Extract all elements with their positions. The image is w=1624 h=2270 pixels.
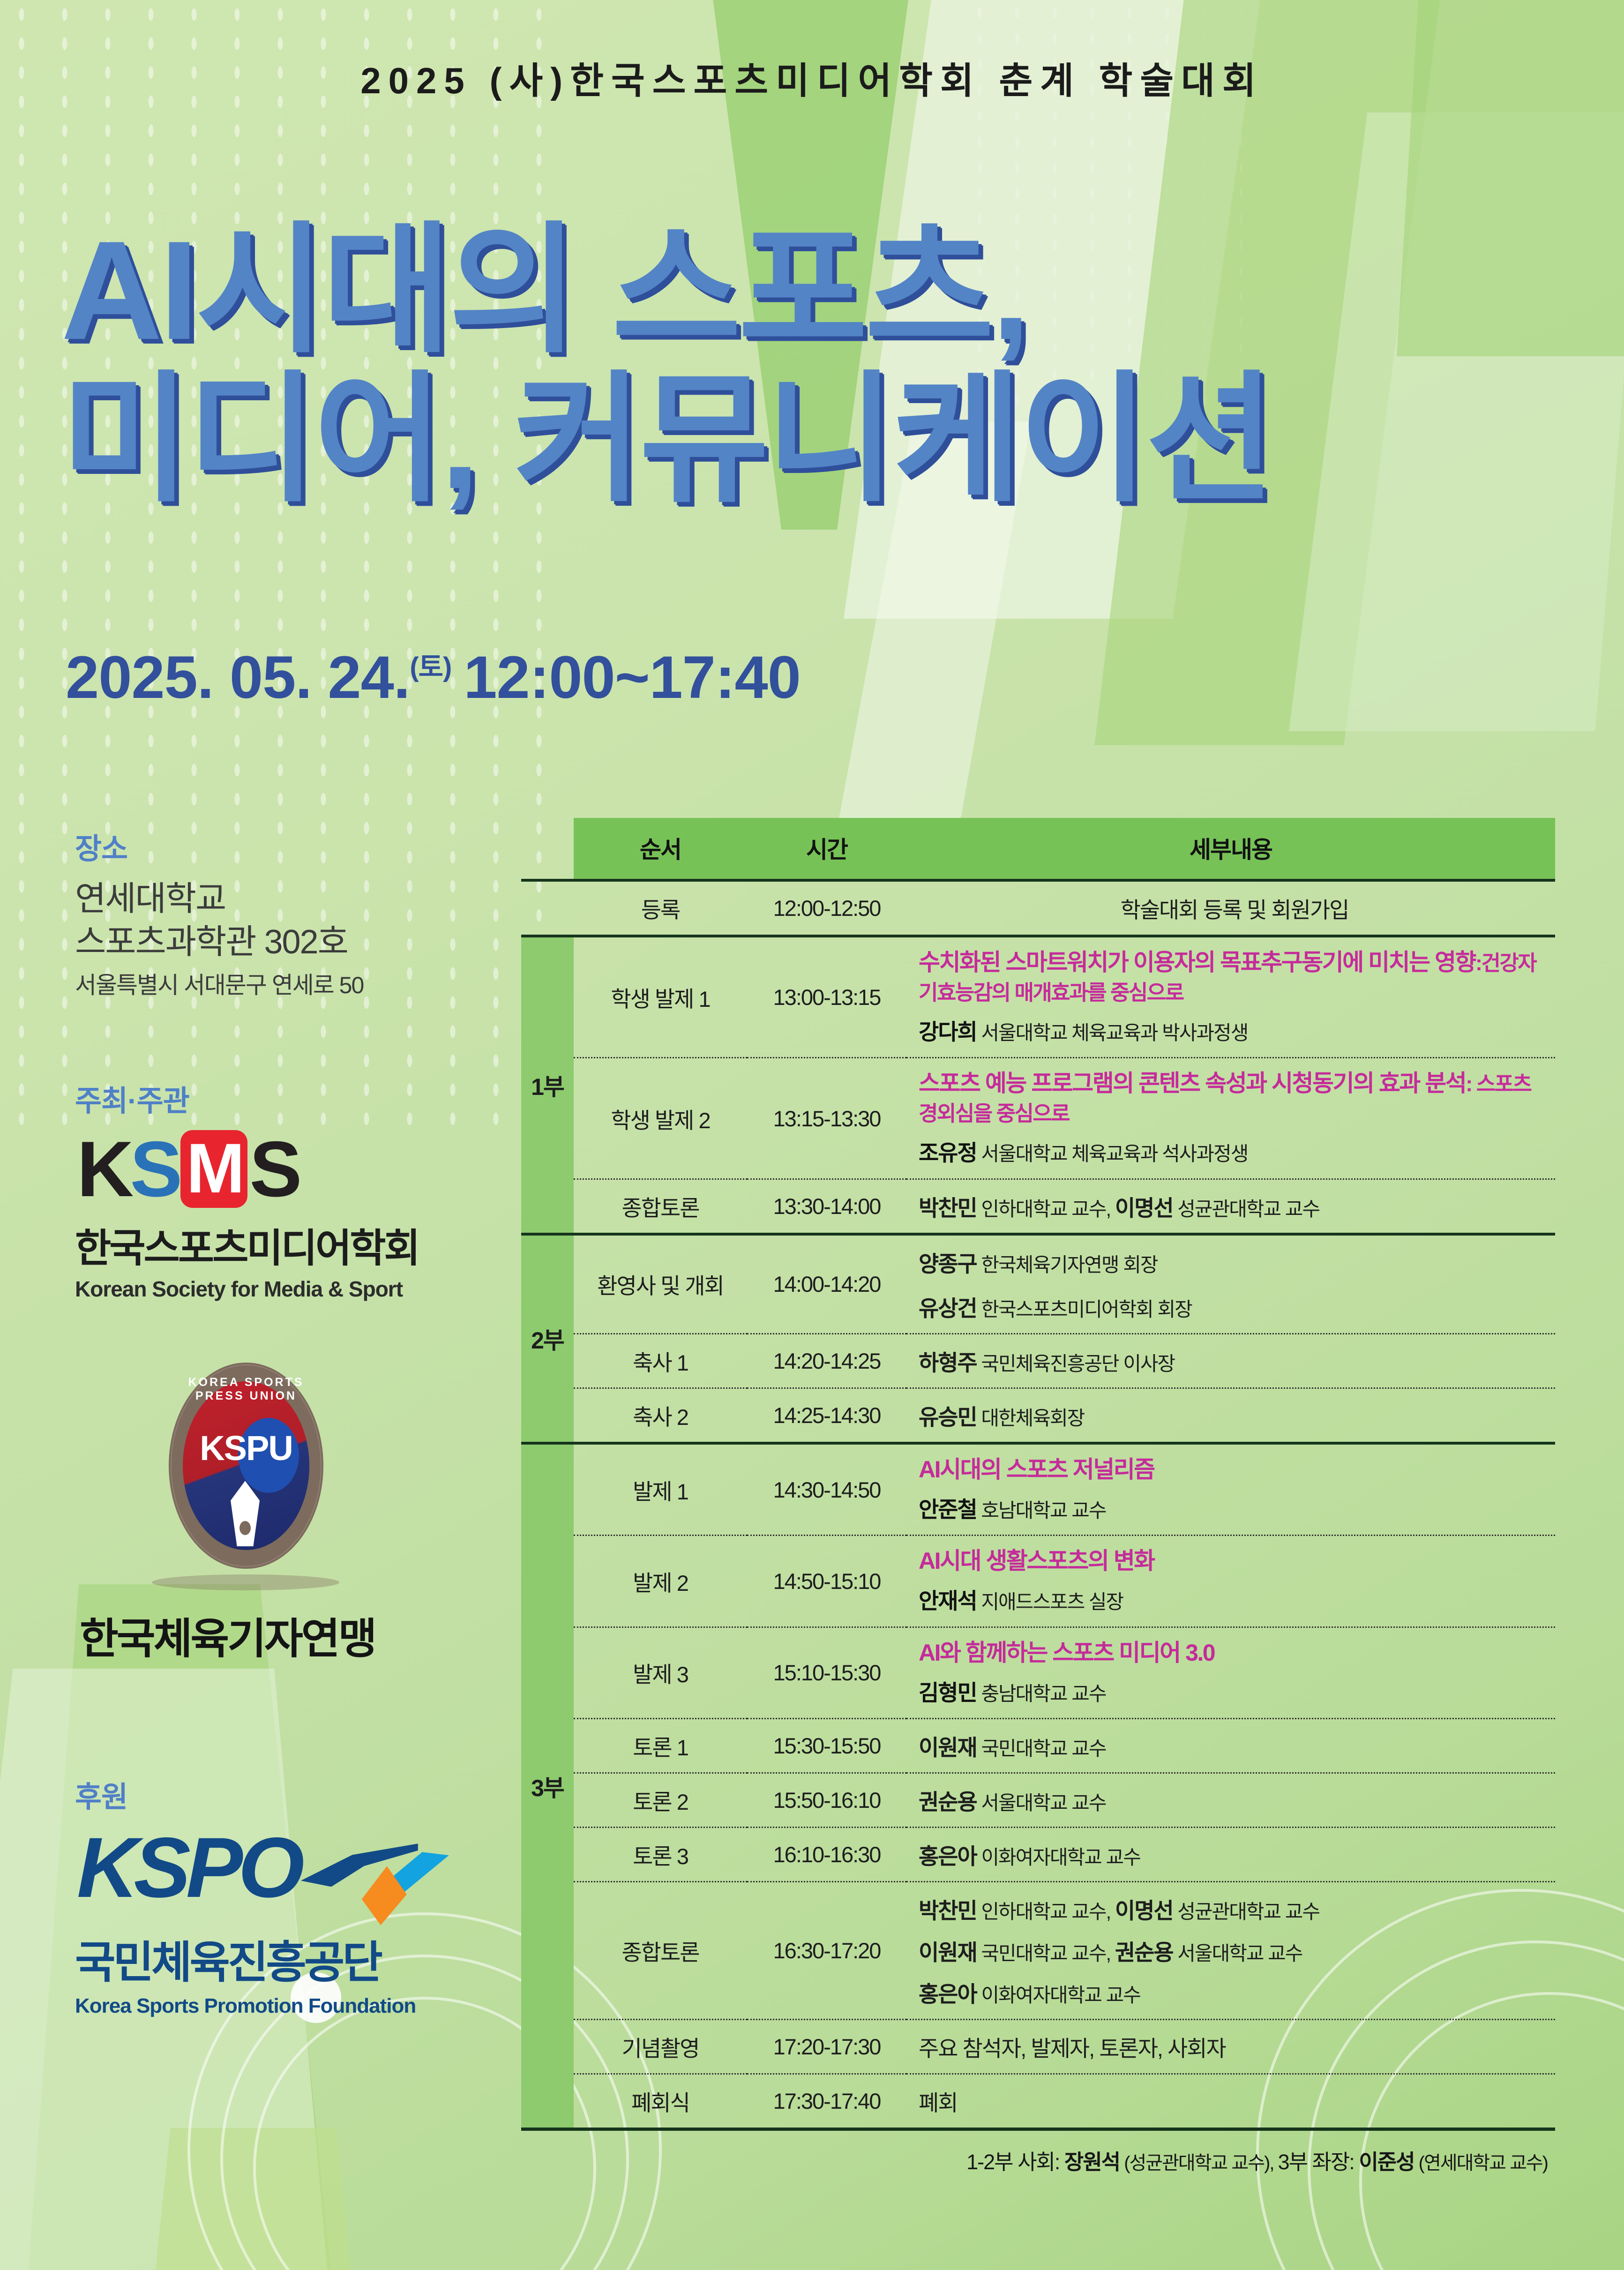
title-line-2: 미디어, 커뮤니케이션: [61, 365, 1561, 514]
row-detail: 권순용 서울대학교 교수: [906, 1773, 1555, 1828]
session-part-empty: [521, 880, 574, 936]
person-entry: 하형주 국민체육진흥공단 이사장: [919, 1350, 1175, 1375]
person-line: 홍은아 이화여자대학교 교수: [919, 1976, 1550, 2008]
event-date: 2025. 05. 24.: [66, 644, 410, 711]
table-row: 등록12:00-12:50학술대회 등록 및 회원가입: [521, 880, 1555, 936]
table-row: 축사 114:20-14:25하형주 국민체육진흥공단 이사장: [521, 1334, 1555, 1388]
row-time: 15:50-16:10: [747, 1773, 906, 1828]
row-order: 토론 2: [574, 1773, 747, 1828]
person-name: 홍은아: [919, 1982, 977, 2007]
person-entry: 유상건 한국스포츠미디어학회 회장: [919, 1296, 1192, 1321]
person-entry: 이원재 국민대학교 교수,: [919, 1940, 1115, 1965]
row-time: 14:20-14:25: [747, 1334, 906, 1388]
column-header-order: 순서: [574, 818, 747, 880]
person-name: 박찬민: [919, 1898, 977, 1923]
table-row: 발제 315:10-15:30AI와 함께하는 스포츠 미디어 3.0김형민 충…: [521, 1627, 1555, 1718]
person-name: 김형민: [919, 1680, 977, 1705]
person-name: 유승민: [919, 1405, 977, 1430]
kspo-wordmark: KSPO: [77, 1826, 300, 1909]
row-detail: 스포츠 예능 프로그램의 콘텐츠 속성과 시청동기의 효과 분석: 스포츠 경외…: [906, 1058, 1555, 1179]
ksms-logo: K S M S: [77, 1130, 525, 1208]
event-day-of-week: (토): [410, 652, 451, 682]
person-name: 양종구: [919, 1251, 977, 1276]
venue-name: 연세대학교: [75, 877, 525, 921]
person-entry: 이명선 성균관대학교 교수: [1115, 1196, 1319, 1221]
ksms-letter-m: M: [186, 1129, 242, 1207]
row-detail: AI시대 생활스포츠의 변화안재석 지애드스포츠 실장: [906, 1536, 1555, 1627]
presentation-topic: 스포츠 예능 프로그램의 콘텐츠 속성과 시청동기의 효과 분석: 스포츠 경외…: [919, 1069, 1550, 1128]
table-row: 2부환영사 및 개회14:00-14:20양종구 한국체육기자연맹 회장 유상건…: [521, 1234, 1555, 1334]
person-affiliation: 국민대학교 교수: [977, 1738, 1106, 1760]
footer-chair-affil: (연세대학교 교수): [1414, 2153, 1548, 2173]
schedule-table-body: 등록12:00-12:50학술대회 등록 및 회원가입1부학생 발제 113:0…: [521, 880, 1555, 2128]
column-header-part: [521, 818, 574, 880]
session-part-label: 3부: [521, 1443, 574, 2128]
organizers-label: 주최·주관: [75, 1077, 525, 1119]
table-row: 학생 발제 213:15-13:30스포츠 예능 프로그램의 콘텐츠 속성과 시…: [521, 1058, 1555, 1179]
person-entry: 유승민 대한체육회장: [919, 1405, 1084, 1430]
row-detail: 박찬민 인하대학교 교수, 이명선 성균관대학교 교수: [906, 1179, 1555, 1234]
venue-label: 장소: [75, 825, 525, 867]
person-affiliation: 성균관대학교 교수: [1173, 1901, 1319, 1923]
row-order: 학생 발제 1: [574, 936, 747, 1058]
person-affiliation: 충남대학교 교수: [977, 1683, 1106, 1705]
row-detail: 폐회: [906, 2074, 1555, 2128]
person-entry: 권순용 서울대학교 교수: [1115, 1940, 1302, 1965]
person-name: 이원재: [919, 1735, 977, 1760]
kspu-emblem-icon: KOREA SPORTS PRESS UNION KSPU: [169, 1363, 323, 1569]
row-time: 17:30-17:40: [747, 2074, 906, 2128]
session-part-label: 2부: [521, 1234, 574, 1443]
row-detail: 학술대회 등록 및 회원가입: [906, 880, 1555, 936]
row-detail: 양종구 한국체육기자연맹 회장 유상건 한국스포츠미디어학회 회장: [906, 1234, 1555, 1334]
table-row: 기념촬영17:20-17:30주요 참석자, 발제자, 토론자, 사회자: [521, 2020, 1555, 2074]
row-detail: 이원재 국민대학교 교수: [906, 1719, 1555, 1773]
row-time: 14:00-14:20: [747, 1234, 906, 1334]
person-entry: 양종구 한국체육기자연맹 회장: [919, 1251, 1157, 1276]
person-affiliation: 지애드스포츠 실장: [977, 1591, 1123, 1613]
person-entry: 박찬민 인하대학교 교수,: [919, 1196, 1115, 1221]
person-name: 강다희: [919, 1019, 977, 1044]
ksms-letter-s1: S: [130, 1130, 179, 1208]
ksms-m-badge: M: [180, 1130, 247, 1208]
person-affiliation: 이화여자대학교 교수: [977, 1984, 1140, 2006]
person-entry: 홍은아 이화여자대학교 교수: [919, 1982, 1140, 2007]
row-order: 발제 2: [574, 1536, 747, 1627]
row-time: 16:30-17:20: [747, 1882, 906, 2020]
row-time: 17:20-17:30: [747, 2020, 906, 2074]
person-name: 안준철: [919, 1497, 977, 1522]
person-affiliation: 이화여자대학교 교수: [977, 1846, 1140, 1868]
ksms-letter-s2: S: [249, 1130, 298, 1208]
row-order: 축사 2: [574, 1388, 747, 1443]
ksms-english-name: Korean Society for Media & Sport: [75, 1276, 525, 1302]
row-order: 종합토론: [574, 1882, 747, 2020]
row-detail: 수치화된 스마트워치가 이용자의 목표추구동기에 미치는 영향:건강자기효능감의…: [906, 936, 1555, 1058]
row-order: 종합토론: [574, 1179, 747, 1234]
kspu-logo: KOREA SPORTS PRESS UNION KSPU 한국체육기자연맹: [75, 1363, 525, 1665]
row-detail: 주요 참석자, 발제자, 토론자, 사회자: [906, 2020, 1555, 2074]
person-name: 홍은아: [919, 1844, 977, 1869]
date-time-line: 2025. 05. 24.(토)12:00~17:40: [66, 643, 801, 712]
row-detail: 홍은아 이화여자대학교 교수: [906, 1828, 1555, 1882]
kspu-shadow: [152, 1574, 339, 1590]
presenter: 안재석 지애드스포츠 실장: [919, 1586, 1550, 1616]
person-name: 이명선: [1115, 1898, 1173, 1923]
presenter: 김형민 충남대학교 교수: [919, 1678, 1550, 1708]
person-name: 유상건: [919, 1296, 977, 1321]
kspu-ring-text: KOREA SPORTS PRESS UNION: [169, 1376, 323, 1403]
row-time: 13:00-13:15: [747, 936, 906, 1058]
person-entry: 권순용 서울대학교 교수: [919, 1790, 1106, 1814]
row-order: 기념촬영: [574, 2020, 747, 2074]
table-footer-note: 1-2부 사회: 장원석 (성균관대학교 교수), 3부 좌장: 이준성 (연세…: [521, 2131, 1555, 2175]
row-order: 환영사 및 개회: [574, 1234, 747, 1334]
presentation-topic: AI시대의 스포츠 저널리즘: [919, 1455, 1550, 1484]
table-row: 3부발제 114:30-14:50AI시대의 스포츠 저널리즘안준철 호남대학교…: [521, 1443, 1555, 1536]
row-time: 14:25-14:30: [747, 1388, 906, 1443]
table-row: 축사 214:25-14:30유승민 대한체육회장: [521, 1388, 1555, 1443]
title-line-1: AI시대의 스포츠,: [61, 216, 1561, 365]
table-row: 발제 214:50-15:10AI시대 생활스포츠의 변화안재석 지애드스포츠 …: [521, 1536, 1555, 1627]
row-order: 발제 3: [574, 1627, 747, 1718]
kspu-acronym: KSPU: [169, 1428, 323, 1468]
organizers-block: 주최·주관 K S M S 한국스포츠미디어학회 Korean Society …: [75, 1077, 525, 1665]
row-time: 15:30-15:50: [747, 1719, 906, 1773]
footer-chair-name: 이준성: [1359, 2150, 1414, 2174]
footer-moderator-name: 장원석: [1064, 2150, 1120, 2174]
ksms-korean-name: 한국스포츠미디어학회: [75, 1217, 525, 1274]
person-entry: 이원재 국민대학교 교수: [919, 1735, 1106, 1760]
row-detail: AI와 함께하는 스포츠 미디어 3.0김형민 충남대학교 교수: [906, 1627, 1555, 1718]
poster-title: AI시대의 스포츠, 미디어, 커뮤니케이션: [61, 216, 1561, 514]
person-affiliation: 인하대학교 교수,: [977, 1901, 1115, 1923]
person-affiliation: 한국체육기자연맹 회장: [977, 1254, 1158, 1276]
conference-poster: 2025 (사)한국스포츠미디어학회 춘계 학술대회 AI시대의 스포츠, 미디…: [0, 0, 1624, 2270]
person-line: 양종구 한국체육기자연맹 회장: [919, 1246, 1550, 1278]
row-time: 15:10-15:30: [747, 1627, 906, 1718]
row-time: 12:00-12:50: [747, 880, 906, 936]
row-detail: 박찬민 인하대학교 교수, 이명선 성균관대학교 교수 이원재 국민대학교 교수…: [906, 1882, 1555, 2020]
column-header-detail: 세부내용: [906, 818, 1555, 880]
person-name: 조유정: [919, 1140, 977, 1165]
table-row: 1부학생 발제 113:00-13:15수치화된 스마트워치가 이용자의 목표추…: [521, 936, 1555, 1058]
row-time: 16:10-16:30: [747, 1828, 906, 1882]
presentation-topic: AI시대 생활스포츠의 변화: [919, 1546, 1550, 1576]
person-name: 안재석: [919, 1588, 977, 1613]
person-name: 권순용: [919, 1790, 977, 1814]
row-order: 등록: [574, 880, 747, 936]
bird-icon: [296, 1828, 451, 1921]
footer-prefix-2: 3부 좌장:: [1278, 2150, 1359, 2174]
presenter: 조유정 서울대학교 체육교육과 석사과정생: [919, 1138, 1550, 1168]
ksms-letter-k: K: [77, 1130, 130, 1208]
row-time: 14:50-15:10: [747, 1536, 906, 1627]
row-order: 폐회식: [574, 2074, 747, 2128]
presentation-topic: 수치화된 스마트워치가 이용자의 목표추구동기에 미치는 영향:건강자기효능감의…: [919, 948, 1550, 1007]
kspu-korean-name: 한국체육기자연맹: [80, 1604, 525, 1665]
kspo-logo: KSPO: [77, 1826, 525, 1921]
person-affiliation: 호남대학교 교수: [977, 1499, 1106, 1521]
polygon-shape-i: [155, 2128, 352, 2270]
person-name: 이명선: [1115, 1196, 1173, 1221]
person-affiliation: 국민대학교 교수,: [977, 1942, 1115, 1964]
venue-room: 스포츠과학관 302호: [75, 921, 525, 964]
person-affiliation: 서울대학교 교수: [977, 1792, 1106, 1814]
table-row: 종합토론16:30-17:20박찬민 인하대학교 교수, 이명선 성균관대학교 …: [521, 1882, 1555, 2020]
row-time: 13:15-13:30: [747, 1058, 906, 1179]
person-affiliation: 성균관대학교 교수: [1173, 1198, 1319, 1220]
event-time-range: 12:00~17:40: [464, 644, 801, 711]
venue-block: 장소 연세대학교 스포츠과학관 302호 서울특별시 서대문구 연세로 50: [75, 825, 525, 1000]
kspo-english-name: Korea Sports Promotion Foundation: [75, 1994, 525, 2018]
row-detail: 하형주 국민체육진흥공단 이사장: [906, 1334, 1555, 1388]
presenter: 안준철 호남대학교 교수: [919, 1495, 1550, 1524]
table-row: 폐회식17:30-17:40폐회: [521, 2074, 1555, 2128]
person-affiliation: 인하대학교 교수,: [977, 1198, 1115, 1220]
presentation-subtitle: : 스포츠 경외심을 중심으로: [919, 1072, 1531, 1125]
person-entry: 이명선 성균관대학교 교수: [1115, 1898, 1319, 1923]
row-order: 축사 1: [574, 1334, 747, 1388]
schedule-table-wrapper: 순서 시간 세부내용 등록12:00-12:50학술대회 등록 및 회원가입1부…: [521, 818, 1555, 2175]
person-name: 이원재: [919, 1940, 977, 1965]
row-detail: 유승민 대한체육회장: [906, 1388, 1555, 1443]
row-time: 13:30-14:00: [747, 1179, 906, 1234]
presenter: 강다희 서울대학교 체육교육과 박사과정생: [919, 1017, 1550, 1047]
presentation-topic: AI와 함께하는 스포츠 미디어 3.0: [919, 1638, 1550, 1668]
row-order: 토론 3: [574, 1828, 747, 1882]
row-time: 14:30-14:50: [747, 1443, 906, 1536]
person-affiliation: 서울대학교 체육교육과 석사과정생: [977, 1143, 1248, 1165]
venue-address: 서울특별시 서대문구 연세로 50: [75, 966, 525, 1000]
sponsor-label: 후원: [75, 1773, 525, 1815]
person-affiliation: 한국스포츠미디어학회 회장: [977, 1298, 1192, 1320]
column-header-time: 시간: [747, 818, 906, 880]
table-bottom-rule: [521, 2128, 1555, 2131]
person-affiliation: 대한체육회장: [977, 1407, 1085, 1429]
table-header-row: 순서 시간 세부내용: [521, 818, 1555, 880]
footer-prefix-1: 1-2부 사회:: [966, 2150, 1064, 2174]
row-order: 토론 1: [574, 1719, 747, 1773]
schedule-table: 순서 시간 세부내용 등록12:00-12:50학술대회 등록 및 회원가입1부…: [521, 818, 1555, 2128]
person-name: 하형주: [919, 1350, 977, 1375]
person-affiliation: 서울대학교 체육교육과 박사과정생: [977, 1022, 1248, 1044]
table-row: 토론 115:30-15:50이원재 국민대학교 교수: [521, 1719, 1555, 1773]
row-order: 발제 1: [574, 1443, 747, 1536]
person-line: 박찬민 인하대학교 교수, 이명선 성균관대학교 교수: [919, 1893, 1550, 1925]
person-affiliation: 서울대학교 교수: [1173, 1942, 1302, 1964]
sponsor-block: 후원 KSPO 국민체육진흥공단 Korea Sports Promotion …: [75, 1773, 525, 2018]
session-part-label: 1부: [521, 936, 574, 1234]
row-order: 학생 발제 2: [574, 1058, 747, 1179]
person-line: 이원재 국민대학교 교수, 권순용 서울대학교 교수: [919, 1934, 1550, 1967]
kspo-korean-name: 국민체육진흥공단: [75, 1927, 525, 1991]
person-name: 권순용: [1115, 1940, 1173, 1965]
person-name: 박찬민: [919, 1196, 977, 1221]
person-affiliation: 국민체육진흥공단 이사장: [977, 1353, 1175, 1375]
event-kicker: 2025 (사)한국스포츠미디어학회 춘계 학술대회: [0, 52, 1624, 104]
presentation-subtitle: :건강자기효능감의 매개효과를 중심으로: [919, 951, 1536, 1004]
table-row: 토론 215:50-16:10권순용 서울대학교 교수: [521, 1773, 1555, 1828]
person-line: 유상건 한국스포츠미디어학회 회장: [919, 1290, 1550, 1323]
table-row: 종합토론13:30-14:00박찬민 인하대학교 교수, 이명선 성균관대학교 …: [521, 1179, 1555, 1234]
row-detail: AI시대의 스포츠 저널리즘안준철 호남대학교 교수: [906, 1443, 1555, 1536]
left-info-column: 장소 연세대학교 스포츠과학관 302호 서울특별시 서대문구 연세로 50 주…: [75, 825, 525, 2018]
person-entry: 홍은아 이화여자대학교 교수: [919, 1844, 1140, 1869]
footer-moderator-affil: (성균관대학교 교수),: [1120, 2153, 1278, 2173]
schedule-table-head: 순서 시간 세부내용: [521, 818, 1555, 880]
person-entry: 박찬민 인하대학교 교수,: [919, 1898, 1115, 1923]
table-row: 토론 316:10-16:30홍은아 이화여자대학교 교수: [521, 1828, 1555, 1882]
